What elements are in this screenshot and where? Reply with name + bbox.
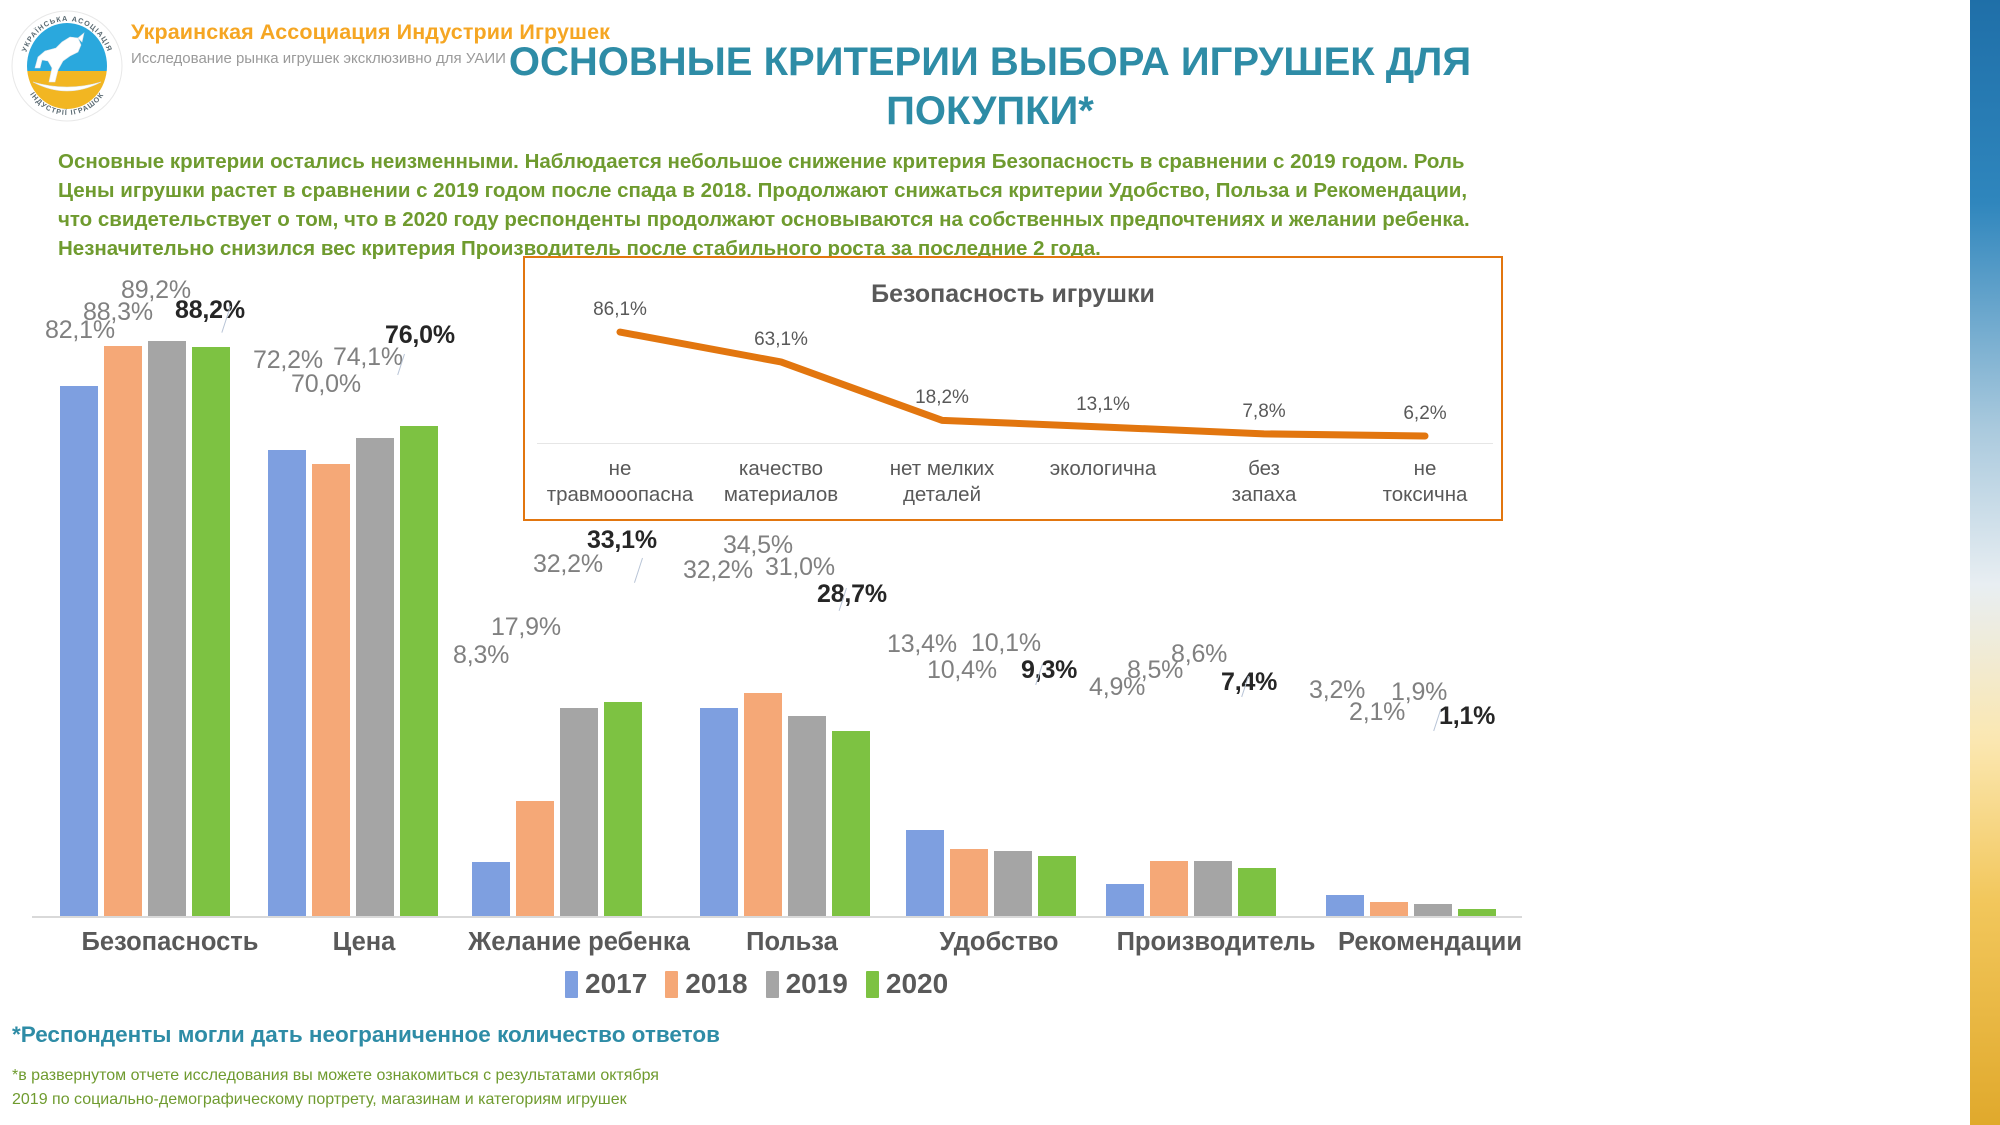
bar-value-label-2019-Производитель: 8,6% bbox=[1171, 640, 1227, 669]
legend-swatch-2020 bbox=[866, 971, 879, 998]
organization-logo: УКРАЇНСЬКА АСОЦІАЦІЯ ІНДУСТРІЇ ІГРАШОК bbox=[8, 4, 126, 126]
bar-category-label-6: Рекомендации bbox=[1306, 928, 1554, 957]
bar-category-label-3: Польза bbox=[680, 928, 904, 957]
inset-x-label-line: качество bbox=[696, 456, 866, 482]
bar-value-label-2018-Желание ребенка: 17,9% bbox=[491, 613, 561, 642]
bar-2018-Рекомендации[interactable] bbox=[1370, 902, 1408, 916]
bar-2020-Польза[interactable] bbox=[832, 731, 870, 916]
inset-x-label-line: запаха bbox=[1179, 482, 1349, 508]
bar-group-bars bbox=[47, 316, 243, 916]
bar-2019-Производитель[interactable] bbox=[1194, 861, 1232, 916]
footnote-secondary-line1: *в развернутом отчете исследования вы мо… bbox=[12, 1064, 659, 1088]
bar-2020-Рекомендации[interactable] bbox=[1458, 909, 1496, 916]
inset-x-label-line: токсична bbox=[1340, 482, 1510, 508]
legend-swatch-2019 bbox=[766, 971, 779, 998]
bar-value-label-2020-Рекомендации: 1,1% bbox=[1439, 702, 1495, 731]
bar-2017-Цена[interactable] bbox=[268, 450, 306, 916]
bar-2019-Безопасность[interactable] bbox=[148, 341, 186, 916]
summary-paragraph: Основные критерии остались неизменными. … bbox=[58, 147, 1478, 263]
inset-x-label-line: не bbox=[1340, 456, 1510, 482]
legend-swatch-2017 bbox=[565, 971, 578, 998]
inset-x-label-line: деталей bbox=[857, 482, 1027, 508]
bar-2019-Рекомендации[interactable] bbox=[1414, 904, 1452, 916]
bar-2017-Рекомендации[interactable] bbox=[1326, 895, 1364, 916]
bar-2018-Цена[interactable] bbox=[312, 464, 350, 916]
legend-label-2019: 2019 bbox=[786, 968, 848, 1000]
inset-x-label-line: нет мелких bbox=[857, 456, 1027, 482]
bar-value-label-2019-Удобство: 10,1% bbox=[971, 629, 1041, 658]
bar-2020-Производитель[interactable] bbox=[1238, 868, 1276, 916]
bar-2018-Удобство[interactable] bbox=[950, 849, 988, 916]
inset-x-label-5: нетоксична bbox=[1340, 456, 1510, 508]
bar-2019-Желание ребенка[interactable] bbox=[560, 708, 598, 916]
bar-value-label-2020-Безопасность: 88,2% bbox=[175, 296, 245, 325]
bar-value-label-2019-Польза: 31,0% bbox=[765, 553, 835, 582]
bar-2020-Цена[interactable] bbox=[400, 426, 438, 916]
legend-label-2017: 2017 bbox=[585, 968, 647, 1000]
bar-2020-Желание ребенка[interactable] bbox=[604, 702, 642, 916]
bar-2017-Безопасность[interactable] bbox=[60, 386, 98, 916]
inset-x-label-1: качествоматериалов bbox=[696, 456, 866, 508]
inset-line-path bbox=[525, 258, 1505, 458]
bar-category-label-4: Удобство bbox=[886, 928, 1112, 957]
inset-x-label-3: экологична bbox=[1018, 456, 1188, 482]
inset-x-label-4: беззапаха bbox=[1179, 456, 1349, 508]
legend-item-2018[interactable]: 2018 bbox=[665, 968, 747, 1000]
bar-value-label-2017-Желание ребенка: 8,3% bbox=[453, 641, 509, 670]
bar-2019-Цена[interactable] bbox=[356, 438, 394, 916]
bar-category-label-1: Цена bbox=[248, 928, 480, 957]
bar-group-0 bbox=[47, 316, 243, 916]
legend-label-2018: 2018 bbox=[685, 968, 747, 1000]
inset-point-label-3: 13,1% bbox=[1076, 394, 1130, 416]
bar-2018-Безопасность[interactable] bbox=[104, 346, 142, 916]
bar-chart-legend: 2017 2018 2019 2020 bbox=[565, 968, 948, 1000]
bar-2017-Производитель[interactable] bbox=[1106, 884, 1144, 916]
bar-2018-Польза[interactable] bbox=[744, 693, 782, 916]
inset-x-label-line: без bbox=[1179, 456, 1349, 482]
legend-label-2020: 2020 bbox=[886, 968, 948, 1000]
inset-point-label-0: 86,1% bbox=[593, 299, 647, 321]
bar-value-label-2020-Польза: 28,7% bbox=[817, 580, 887, 609]
inset-point-label-1: 63,1% bbox=[754, 329, 808, 351]
bar-chart-baseline bbox=[32, 916, 1522, 918]
bar-value-label-2020-Удобство: 9,3% bbox=[1021, 656, 1077, 685]
bar-value-label-2018-Цена: 70,0% bbox=[291, 370, 361, 399]
legend-swatch-2018 bbox=[665, 971, 678, 998]
bar-2018-Желание ребенка[interactable] bbox=[516, 801, 554, 916]
bar-group-1 bbox=[255, 316, 451, 916]
legend-item-2020[interactable]: 2020 bbox=[866, 968, 948, 1000]
bar-category-label-2: Желание ребенка bbox=[452, 928, 706, 957]
inset-point-label-2: 18,2% bbox=[915, 387, 969, 409]
logo-svg: УКРАЇНСЬКА АСОЦІАЦІЯ ІНДУСТРІЇ ІГРАШОК bbox=[8, 4, 126, 126]
inset-point-label-5: 6,2% bbox=[1403, 403, 1446, 425]
inset-x-label-line: травмооопасна bbox=[535, 482, 705, 508]
bar-2019-Удобство[interactable] bbox=[994, 851, 1032, 916]
footnote-secondary: *в развернутом отчете исследования вы мо… bbox=[12, 1064, 659, 1112]
legend-item-2019[interactable]: 2019 bbox=[766, 968, 848, 1000]
page-title: ОСНОВНЫЕ КРИТЕРИИ ВЫБОРА ИГРУШЕК ДЛЯ ПОК… bbox=[430, 38, 1550, 136]
inset-x-label-2: нет мелкихдеталей bbox=[857, 456, 1027, 508]
bar-value-label-2020-Желание ребенка: 33,1% bbox=[587, 526, 657, 555]
bar-value-label-2018-Удобство: 10,4% bbox=[927, 656, 997, 685]
footnote-primary: *Респонденты могли дать неограниченное к… bbox=[12, 1022, 720, 1048]
bar-2019-Польза[interactable] bbox=[788, 716, 826, 916]
safety-line-chart: Безопасность игрушки 86,1%нетравмооопасн… bbox=[523, 256, 1503, 521]
slide-edge-accent-bar bbox=[1970, 0, 2000, 1125]
bar-value-label-2020-Цена: 76,0% bbox=[385, 321, 455, 350]
bar-2018-Производитель[interactable] bbox=[1150, 861, 1188, 916]
bar-2017-Удобство[interactable] bbox=[906, 830, 944, 916]
bar-2020-Безопасность[interactable] bbox=[192, 347, 230, 916]
bar-value-label-2020-Производитель: 7,4% bbox=[1221, 668, 1277, 697]
bar-2017-Польза[interactable] bbox=[700, 708, 738, 916]
inset-x-label-0: нетравмооопасна bbox=[535, 456, 705, 508]
bar-2020-Удобство[interactable] bbox=[1038, 856, 1076, 916]
bar-group-bars bbox=[255, 316, 451, 916]
inset-x-label-line: не bbox=[535, 456, 705, 482]
bar-2017-Желание ребенка[interactable] bbox=[472, 862, 510, 916]
bar-value-label-2017-Польза: 32,2% bbox=[683, 556, 753, 585]
legend-item-2017[interactable]: 2017 bbox=[565, 968, 647, 1000]
inset-point-label-4: 7,8% bbox=[1242, 401, 1285, 423]
inset-x-label-line: материалов bbox=[696, 482, 866, 508]
footnote-secondary-line2: 2019 по социально-демографическому портр… bbox=[12, 1088, 659, 1112]
bar-value-label-2017-Удобство: 13,4% bbox=[887, 630, 957, 659]
slide-root: УКРАЇНСЬКА АСОЦІАЦІЯ ІНДУСТРІЇ ІГРАШОК У… bbox=[0, 0, 2000, 1125]
